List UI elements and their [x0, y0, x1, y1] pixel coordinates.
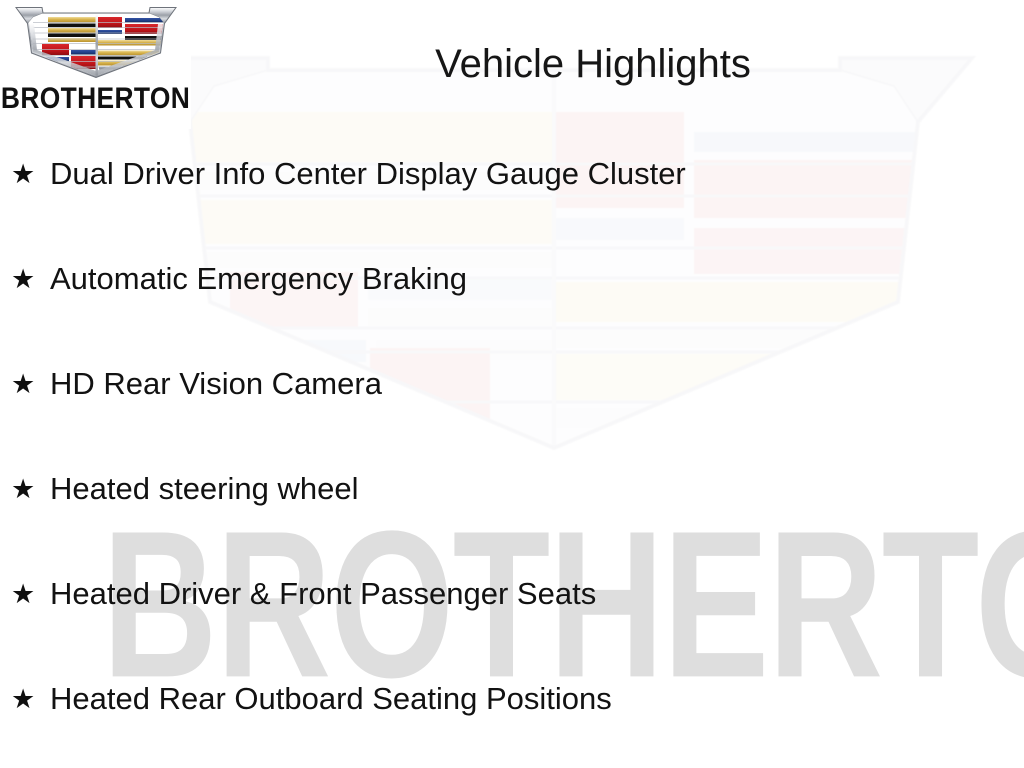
dealer-logo[interactable]: BROTHERTON — [0, 0, 191, 129]
list-item-label: Heated Rear Outboard Seating Positions — [50, 681, 612, 717]
list-item: ★ Heated steering wheel — [0, 471, 1024, 576]
list-item: ★ Heated Driver & Front Passenger Seats — [0, 576, 1024, 681]
dealer-wordmark: BROTHERTON — [1, 82, 190, 116]
list-item: ★ Dual Driver Info Center Display Gauge … — [0, 156, 1024, 261]
star-icon: ★ — [11, 261, 50, 297]
list-item: ★ Heated Rear Outboard Seating Positions — [0, 681, 1024, 768]
vehicle-highlights-page: BROTHERTON — [0, 0, 1024, 768]
list-item-label: Automatic Emergency Braking — [50, 261, 467, 297]
star-icon: ★ — [11, 156, 50, 192]
list-item-label: Heated steering wheel — [50, 471, 358, 507]
list-item: ★ Automatic Emergency Braking — [0, 261, 1024, 366]
vehicle-highlights-list: ★ Dual Driver Info Center Display Gauge … — [0, 156, 1024, 768]
star-icon: ★ — [11, 576, 50, 612]
list-item-label: Dual Driver Info Center Display Gauge Cl… — [50, 156, 686, 192]
star-icon: ★ — [11, 471, 50, 507]
star-icon: ★ — [11, 681, 50, 717]
cadillac-crest-icon — [13, 6, 179, 78]
list-item-label: Heated Driver & Front Passenger Seats — [50, 576, 596, 612]
star-icon: ★ — [11, 366, 50, 402]
list-item: ★ HD Rear Vision Camera — [0, 366, 1024, 471]
list-item-label: HD Rear Vision Camera — [50, 366, 382, 402]
